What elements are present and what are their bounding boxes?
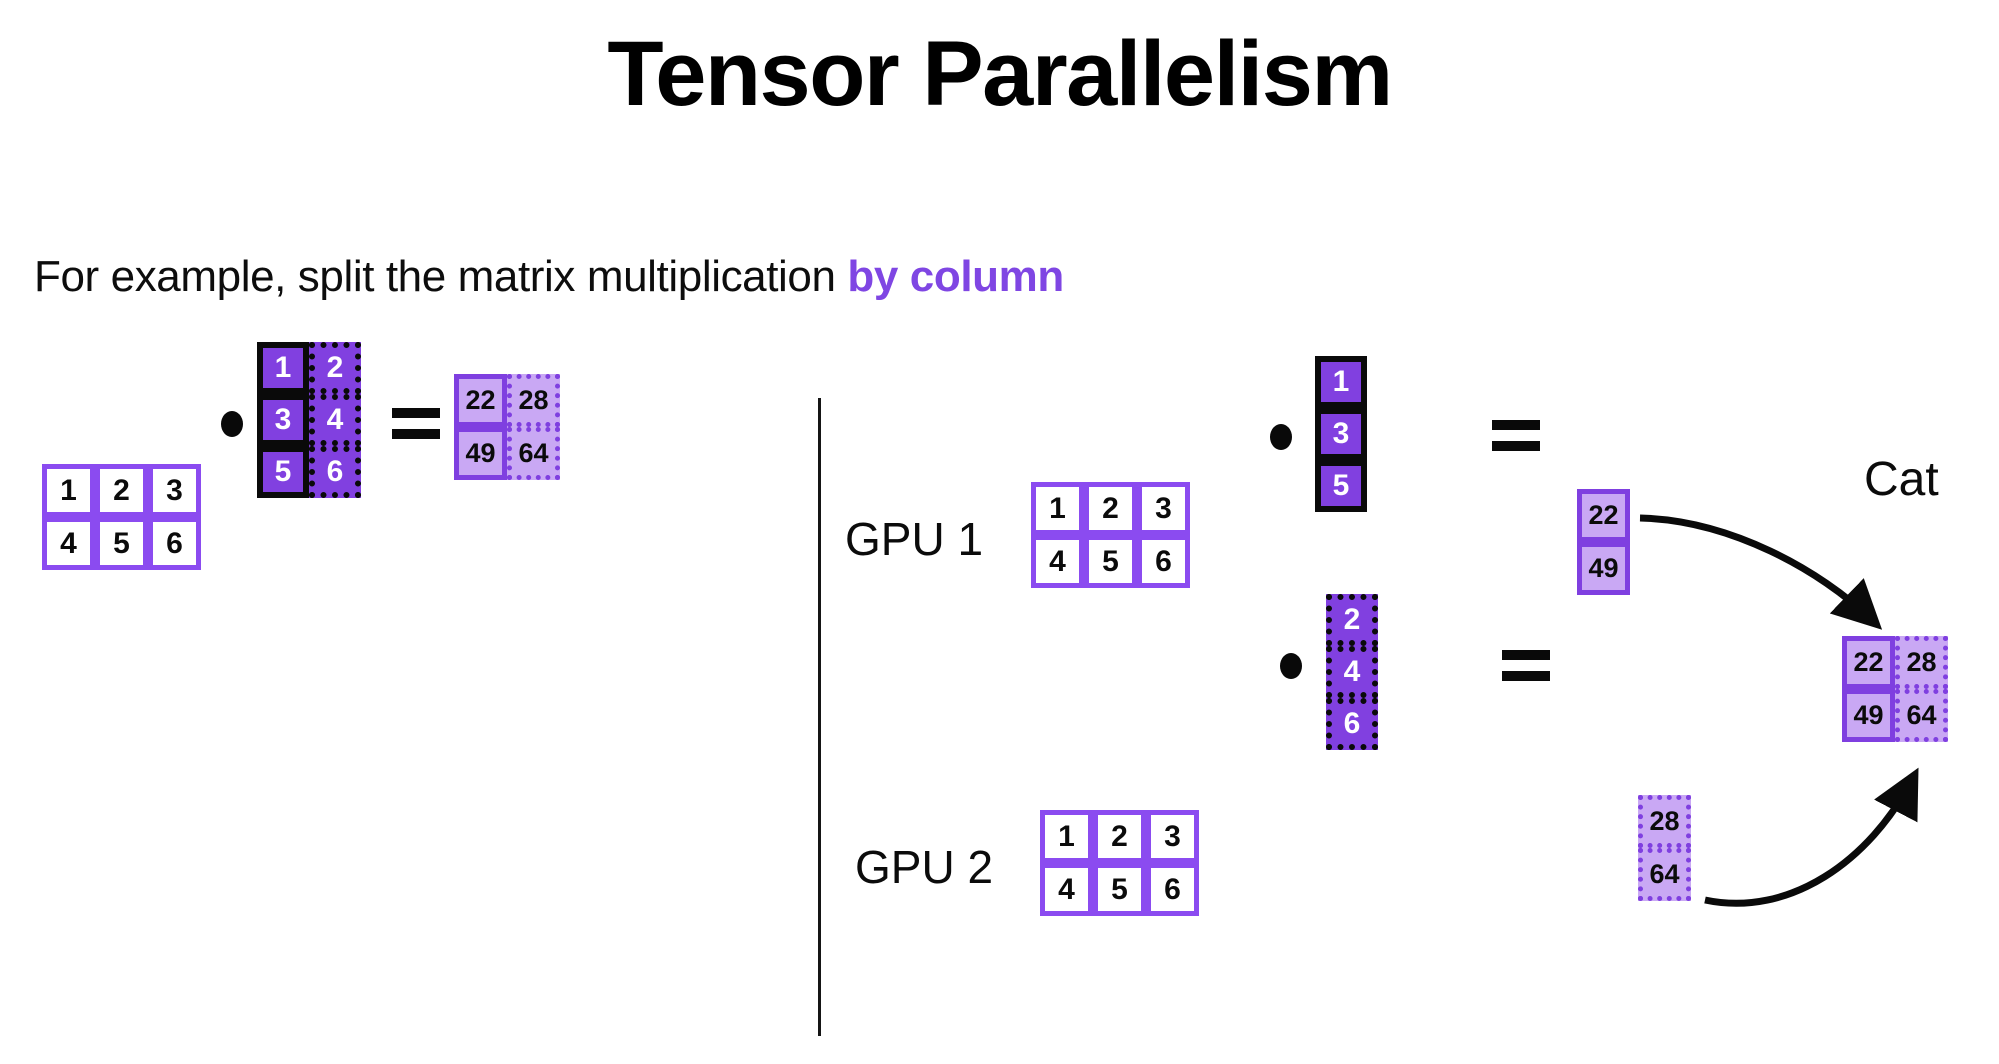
matrix-cell: 1 xyxy=(1315,356,1367,408)
matrix-cell: 1 xyxy=(42,464,95,517)
matrix-cell: 5 xyxy=(1084,535,1137,588)
arrow-gpu1-to-cat xyxy=(1640,518,1872,620)
matrix-cell: 3 xyxy=(1315,408,1367,460)
equals-operator-icon xyxy=(1502,650,1550,682)
matrix-cell: 49 xyxy=(454,427,507,480)
matrix-cell: 28 xyxy=(1895,636,1948,689)
gpu2-label: GPU 2 xyxy=(855,840,993,894)
matrix-cell: 5 xyxy=(1093,863,1146,916)
concat-label: Cat xyxy=(1864,452,1939,507)
concat-result-matrix: 22 28 49 64 xyxy=(1842,636,1948,742)
matrix-cell: 6 xyxy=(1326,698,1378,750)
matrix-cell: 6 xyxy=(1146,863,1199,916)
gpu1-result-matrix: 22 49 xyxy=(1577,489,1630,595)
matrix-cell: 49 xyxy=(1842,689,1895,742)
matrix-cell: 28 xyxy=(507,374,560,427)
arrow-gpu2-to-cat xyxy=(1705,780,1912,903)
matrix-cell: 6 xyxy=(309,446,361,498)
dot-product-operator-icon xyxy=(221,411,243,437)
matrix-cell: 5 xyxy=(1315,460,1367,512)
matrix-cell: 3 xyxy=(148,464,201,517)
matrix-cell: 2 xyxy=(1093,810,1146,863)
matrix-cell: 5 xyxy=(257,446,309,498)
gpu1-label: GPU 1 xyxy=(845,512,983,566)
gpu1-matrix-a: 1 2 3 4 5 6 xyxy=(1031,482,1190,588)
left-result-matrix: 22 28 49 64 xyxy=(454,374,560,480)
matrix-cell: 4 xyxy=(1040,863,1093,916)
matrix-cell: 28 xyxy=(1638,795,1691,848)
gpu1-matrix-b: 1 3 5 xyxy=(1315,356,1367,512)
subtitle-plain-text: For example, split the matrix multiplica… xyxy=(34,252,847,301)
matrix-cell: 22 xyxy=(1842,636,1895,689)
matrix-cell: 6 xyxy=(148,517,201,570)
matrix-cell: 49 xyxy=(1577,542,1630,595)
equals-operator-icon xyxy=(1492,420,1540,452)
matrix-cell: 64 xyxy=(1638,848,1691,901)
subtitle: For example, split the matrix multiplica… xyxy=(34,252,1064,302)
equals-operator-icon xyxy=(392,408,440,440)
matrix-cell: 3 xyxy=(1146,810,1199,863)
matrix-cell: 4 xyxy=(1326,646,1378,698)
matrix-cell: 64 xyxy=(507,427,560,480)
matrix-cell: 64 xyxy=(1895,689,1948,742)
matrix-cell: 1 xyxy=(1040,810,1093,863)
matrix-cell: 4 xyxy=(1031,535,1084,588)
matrix-cell: 2 xyxy=(1326,594,1378,646)
matrix-cell: 5 xyxy=(95,517,148,570)
matrix-cell: 3 xyxy=(1137,482,1190,535)
gpu2-matrix-a: 1 2 3 4 5 6 xyxy=(1040,810,1199,916)
subtitle-accent-text: by column xyxy=(847,252,1063,301)
matrix-cell: 22 xyxy=(454,374,507,427)
arrow-layer xyxy=(0,0,1999,1064)
gpu2-result-matrix: 28 64 xyxy=(1638,795,1691,901)
vertical-divider xyxy=(818,398,821,1036)
matrix-cell: 1 xyxy=(257,342,309,394)
matrix-cell: 2 xyxy=(309,342,361,394)
dot-product-operator-icon xyxy=(1270,424,1292,450)
matrix-cell: 3 xyxy=(257,394,309,446)
left-matrix-a: 1 2 3 4 5 6 xyxy=(42,464,201,570)
matrix-cell: 2 xyxy=(95,464,148,517)
matrix-cell: 22 xyxy=(1577,489,1630,542)
matrix-cell: 1 xyxy=(1031,482,1084,535)
page-title: Tensor Parallelism xyxy=(0,24,1999,125)
gpu2-matrix-b: 2 4 6 xyxy=(1326,594,1378,750)
matrix-cell: 4 xyxy=(309,394,361,446)
matrix-cell: 2 xyxy=(1084,482,1137,535)
dot-product-operator-icon xyxy=(1280,653,1302,679)
left-matrix-b: 1 2 3 4 5 6 xyxy=(257,342,361,498)
matrix-cell: 4 xyxy=(42,517,95,570)
matrix-cell: 6 xyxy=(1137,535,1190,588)
